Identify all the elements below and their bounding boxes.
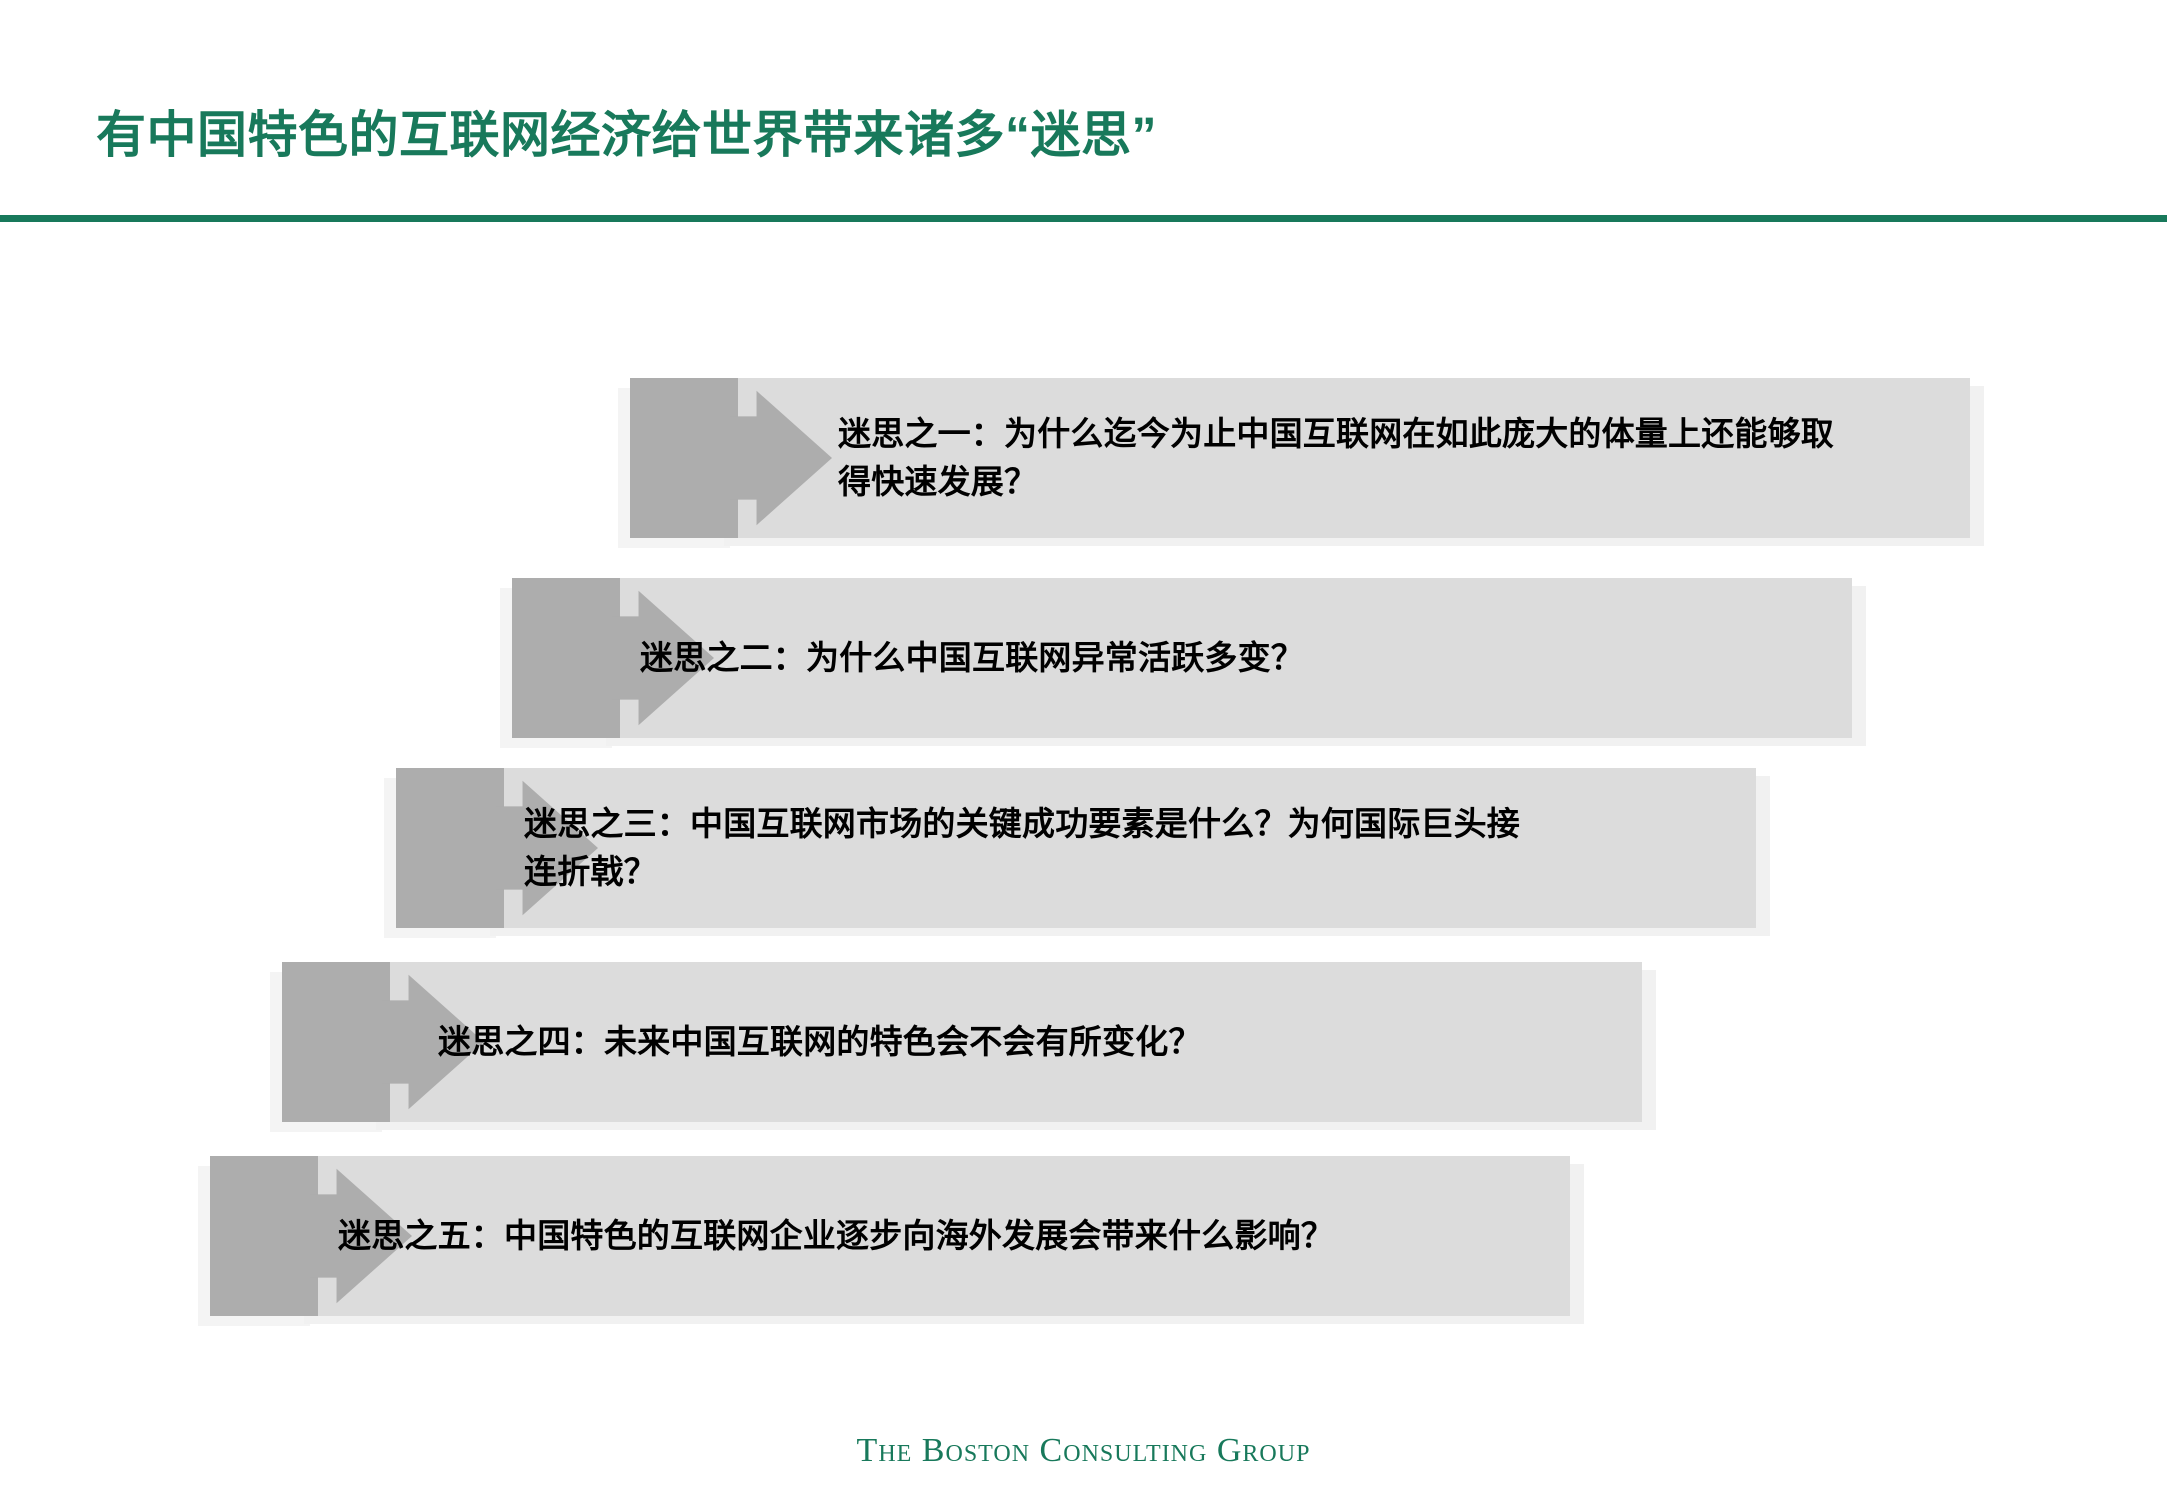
arrow-right-icon — [512, 578, 620, 738]
list-item-text: 迷思之四：未来中国互联网的特色会不会有所变化？ — [438, 962, 1618, 1122]
list-item-line-1: 迷思之二：为什么中国互联网异常活跃多变？ — [640, 634, 1820, 682]
list-item[interactable]: 迷思之三：中国互联网市场的关键成功要素是什么？为何国际巨头接 连折戟？ — [396, 768, 1756, 928]
list-item[interactable]: 迷思之四：未来中国互联网的特色会不会有所变化？ — [282, 962, 1642, 1122]
list-item[interactable]: 迷思之五：中国特色的互联网企业逐步向海外发展会带来什么影响？ — [210, 1156, 1570, 1316]
bcg-logo: The Boston Consulting Group — [0, 1432, 2167, 1470]
arrow-right-icon — [630, 378, 738, 538]
list-item[interactable]: 迷思之二：为什么中国互联网异常活跃多变？ — [512, 578, 1852, 738]
list-item-text: 迷思之一：为什么迄今为止中国互联网在如此庞大的体量上还能够取 得快速发展？ — [838, 378, 1958, 538]
list-item-line-1: 迷思之五：中国特色的互联网企业逐步向海外发展会带来什么影响？ — [338, 1212, 1538, 1260]
myth-arrow-list: 迷思之一：为什么迄今为止中国互联网在如此庞大的体量上还能够取 得快速发展？ 迷思… — [0, 0, 2167, 1500]
list-item-line-2: 得快速发展？ — [838, 458, 1958, 506]
list-item-text: 迷思之五：中国特色的互联网企业逐步向海外发展会带来什么影响？ — [338, 1156, 1538, 1316]
list-item[interactable]: 迷思之一：为什么迄今为止中国互联网在如此庞大的体量上还能够取 得快速发展？ — [630, 378, 1970, 538]
slide-canvas: 有中国特色的互联网经济给世界带来诸多“迷思” 迷思之一：为什么迄今为止中国互联网… — [0, 0, 2167, 1500]
list-item-text: 迷思之二：为什么中国互联网异常活跃多变？ — [640, 578, 1820, 738]
list-item-line-2: 连折戟？ — [524, 848, 1704, 896]
list-item-text: 迷思之三：中国互联网市场的关键成功要素是什么？为何国际巨头接 连折戟？ — [524, 768, 1704, 928]
arrow-right-icon — [282, 962, 390, 1122]
list-item-line-1: 迷思之一：为什么迄今为止中国互联网在如此庞大的体量上还能够取 — [838, 410, 1958, 458]
list-item-line-1: 迷思之三：中国互联网市场的关键成功要素是什么？为何国际巨头接 — [524, 800, 1704, 848]
arrow-right-icon — [210, 1156, 318, 1316]
list-item-line-1: 迷思之四：未来中国互联网的特色会不会有所变化？ — [438, 1018, 1618, 1066]
arrow-right-icon — [396, 768, 504, 928]
